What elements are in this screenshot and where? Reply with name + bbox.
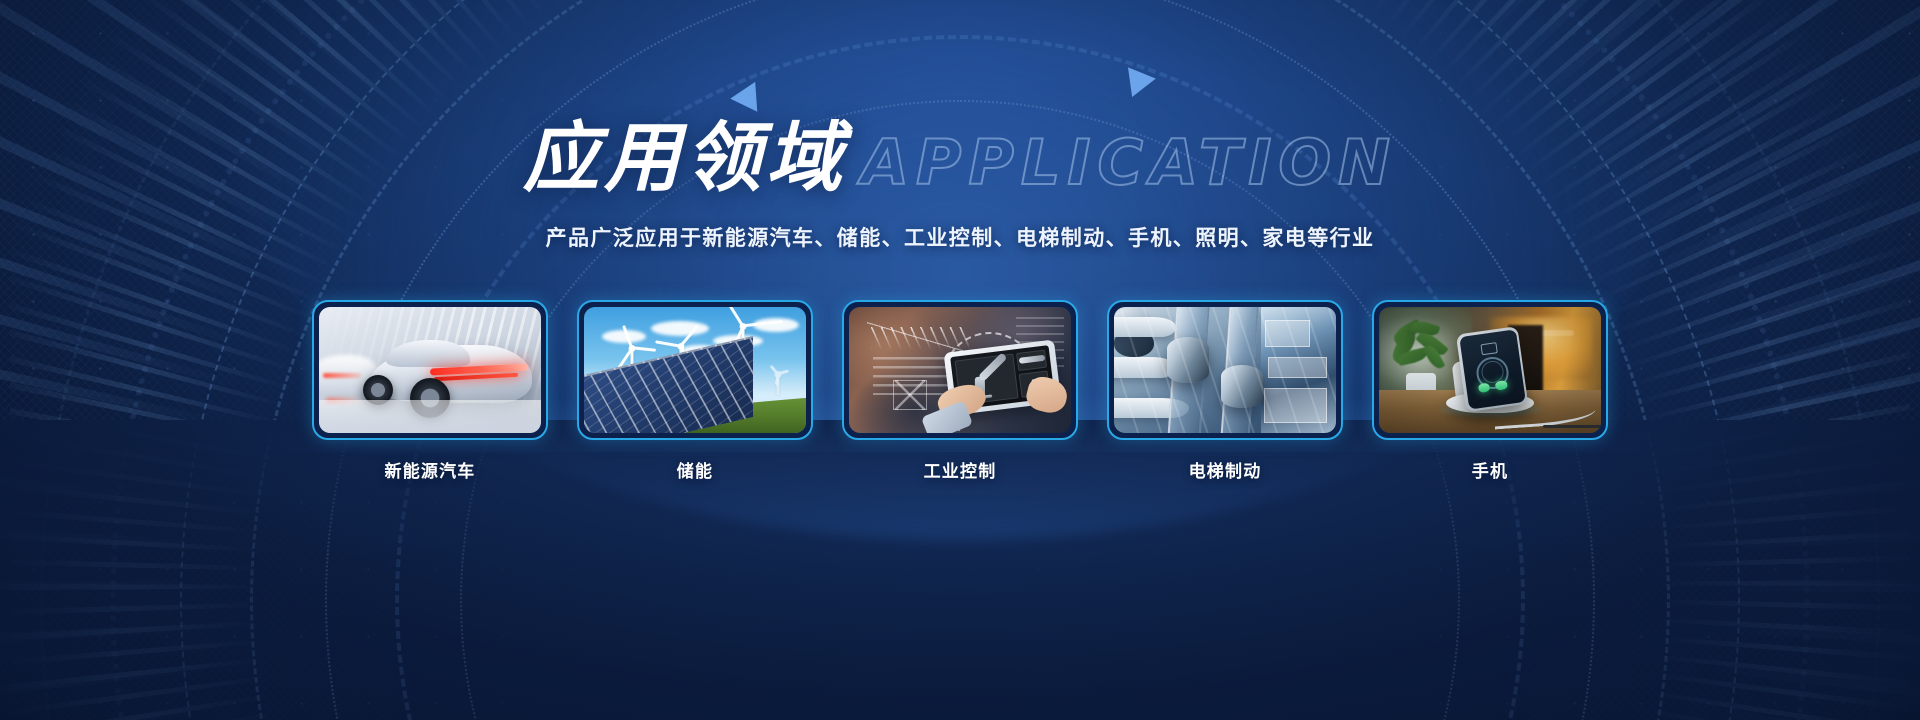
card-label: 新能源汽车 [385, 457, 476, 482]
application-card-industrial-control[interactable]: 工业控制 [842, 300, 1078, 482]
solar-wind-farm-photo [584, 307, 806, 433]
application-card-mobile-phone[interactable]: 手机 [1372, 300, 1608, 482]
card-frame[interactable] [1107, 300, 1343, 440]
application-card-ev[interactable]: 新能源汽车 [312, 300, 548, 482]
page-title: 应用领域 [523, 120, 847, 196]
headline-block: 应用领域 APPLICATION [0, 120, 1920, 196]
smartphone-wireless-charger-photo [1379, 307, 1601, 433]
application-banner: 应用领域 APPLICATION 产品广泛应用于新能源汽车、储能、工业控制、电梯… [0, 0, 1920, 720]
card-label: 工业控制 [924, 457, 997, 482]
card-label: 储能 [677, 457, 713, 482]
glass-elevator-shafts-photo [1114, 307, 1336, 433]
triangle-marker-icon [1118, 67, 1156, 102]
card-frame[interactable] [577, 300, 813, 440]
card-label: 电梯制动 [1189, 457, 1262, 482]
application-card-elevator-brake[interactable]: 电梯制动 [1107, 300, 1343, 482]
card-label: 手机 [1472, 457, 1508, 482]
card-frame[interactable] [1372, 300, 1608, 440]
page-subtitle: 产品广泛应用于新能源汽车、储能、工业控制、电梯制动、手机、照明、家电等行业 [0, 222, 1920, 252]
card-frame[interactable] [842, 300, 1078, 440]
ev-sports-car-photo [319, 307, 541, 433]
application-card-energy-storage[interactable]: 储能 [577, 300, 813, 482]
application-card-list: 新能源汽车 储能 [0, 300, 1920, 482]
industrial-control-tablet-photo [849, 307, 1071, 433]
page-title-english: APPLICATION [861, 132, 1397, 196]
card-frame[interactable] [312, 300, 548, 440]
